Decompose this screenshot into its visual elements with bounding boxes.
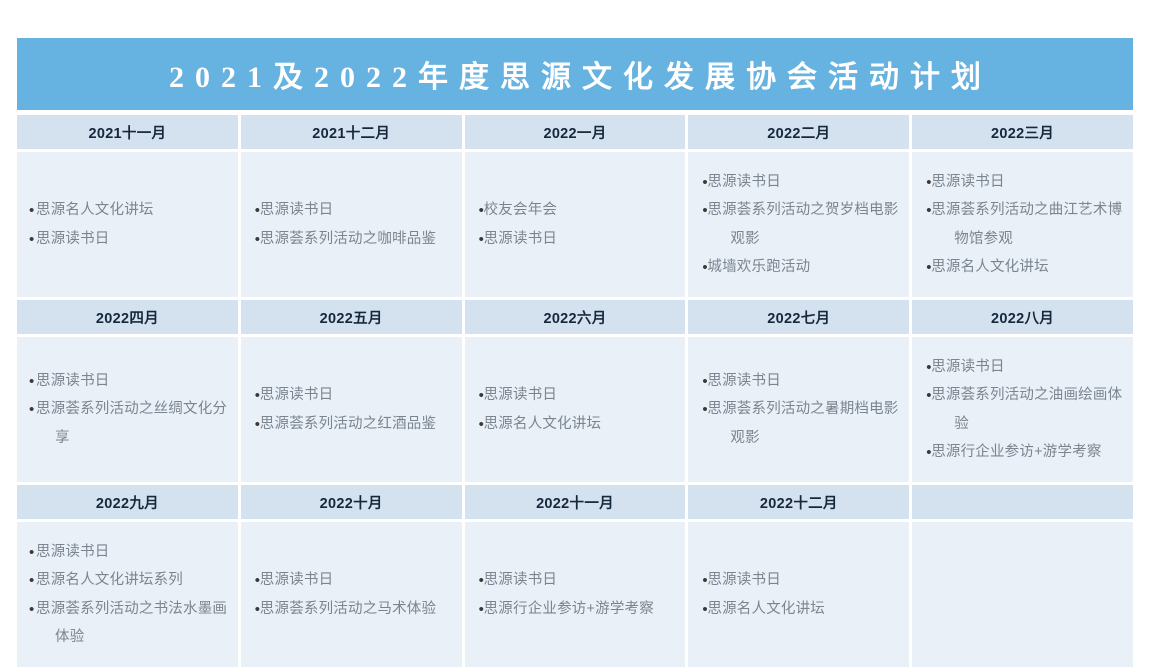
bullet-icon: • [926,353,931,382]
month-header: 2022三月 [912,115,1133,149]
month-cell[interactable]: 2022六月•思源读书日•思源名人文化讲坛 [465,300,686,482]
event-list-item[interactable]: •思源荟系列活动之暑期档电影观影 [692,395,903,452]
event-list-item[interactable]: •思源读书日 [245,381,456,409]
event-list: •思源读书日•思源荟系列活动之红酒品鉴 [245,381,456,438]
month-cell[interactable]: 2022五月•思源读书日•思源荟系列活动之红酒品鉴 [241,300,462,482]
event-label: 思源读书日 [36,373,110,389]
event-label: 思源荟系列活动之咖啡品鉴 [260,231,436,247]
event-list-item[interactable]: •思源读书日 [469,225,680,253]
month-header: 2022七月 [688,300,909,334]
month-header: 2022十二月 [688,485,909,519]
calendar-row: 2021十一月•思源名人文化讲坛•思源读书日2021十二月•思源读书日•思源荟系… [17,115,1133,297]
event-list-item[interactable]: •思源读书日 [692,566,903,594]
event-label: 思源读书日 [260,572,334,588]
month-cell[interactable]: 2021十一月•思源名人文化讲坛•思源读书日 [17,115,238,297]
month-header: 2022九月 [17,485,238,519]
month-cell[interactable]: 2022四月•思源读书日•思源荟系列活动之丝绸文化分享 [17,300,238,482]
month-cell[interactable]: 2022十二月•思源读书日•思源名人文化讲坛 [688,485,909,667]
bullet-icon: • [702,196,707,225]
bullet-icon: • [255,381,260,410]
event-list-container: •思源名人文化讲坛•思源读书日 [17,152,238,297]
bullet-icon: • [702,367,707,396]
event-label: 思源读书日 [707,174,781,190]
month-header: 2022六月 [465,300,686,334]
event-list: •思源读书日•思源名人文化讲坛 [692,566,903,623]
month-header: 2022五月 [241,300,462,334]
event-list-item[interactable]: •思源读书日 [245,566,456,594]
event-list-item[interactable]: •思源读书日 [245,196,456,224]
bullet-icon: • [255,196,260,225]
event-list-item[interactable]: •思源荟系列活动之贺岁档电影观影 [692,196,903,253]
event-list-item[interactable]: •思源名人文化讲坛系列 [21,566,232,594]
bullet-icon: • [255,595,260,624]
bullet-icon: • [479,225,484,254]
bullet-icon: • [29,566,34,595]
event-list-item[interactable]: •思源荟系列活动之马术体验 [245,595,456,623]
event-list-item[interactable]: •思源读书日 [916,168,1127,196]
bullet-icon: • [926,168,931,197]
event-label: 思源名人文化讲坛 [931,259,1049,275]
event-list-container: •思源读书日•思源荟系列活动之咖啡品鉴 [241,152,462,297]
bullet-icon: • [479,381,484,410]
event-label: 思源读书日 [260,202,334,218]
event-label: 思源名人文化讲坛系列 [36,572,183,588]
event-list-container: •思源读书日•思源名人文化讲坛系列•思源荟系列活动之书法水墨画体验 [17,522,238,667]
event-label: 思源名人文化讲坛 [707,601,825,617]
bullet-icon: • [702,395,707,424]
event-list-item[interactable]: •思源荟系列活动之书法水墨画体验 [21,595,232,652]
event-list: •思源读书日•思源行企业参访+游学考察 [469,566,680,623]
event-label: 思源读书日 [484,387,558,403]
month-cell[interactable]: 2022一月•校友会年会•思源读书日 [465,115,686,297]
event-list-container: •思源读书日•思源名人文化讲坛 [465,337,686,482]
bullet-icon: • [702,168,707,197]
event-list-item[interactable]: •校友会年会 [469,196,680,224]
month-header: 2022十月 [241,485,462,519]
month-header: 2021十一月 [17,115,238,149]
event-list-container: •思源读书日•思源荟系列活动之贺岁档电影观影•城墙欢乐跑活动 [688,152,909,297]
event-label: 城墙欢乐跑活动 [707,259,810,275]
event-list: •思源名人文化讲坛•思源读书日 [21,196,232,253]
event-list-container: •思源读书日•思源荟系列活动之暑期档电影观影 [688,337,909,482]
event-list-item[interactable]: •思源读书日 [469,381,680,409]
bullet-icon: • [29,225,34,254]
event-label: 思源读书日 [707,572,781,588]
bullet-icon: • [702,253,707,282]
event-list-item[interactable]: •思源荟系列活动之油画绘画体验 [916,381,1127,438]
event-list-item[interactable]: •思源荟系列活动之丝绸文化分享 [21,395,232,452]
event-list: •思源读书日•思源名人文化讲坛系列•思源荟系列活动之书法水墨画体验 [21,538,232,651]
event-list: •思源读书日•思源荟系列活动之油画绘画体验•思源行企业参访+游学考察 [916,353,1127,466]
bullet-icon: • [29,395,34,424]
bullet-icon: • [926,196,931,225]
month-cell[interactable]: 2022十一月•思源读书日•思源行企业参访+游学考察 [465,485,686,667]
calendar-grid: 2021十一月•思源名人文化讲坛•思源读书日2021十二月•思源读书日•思源荟系… [17,115,1133,659]
event-list-container: •思源读书日•思源荟系列活动之丝绸文化分享 [17,337,238,482]
bullet-icon: • [479,566,484,595]
event-list-container: •思源读书日•思源名人文化讲坛 [688,522,909,667]
bullet-icon: • [479,595,484,624]
event-label: 思源读书日 [931,174,1005,190]
month-cell[interactable]: 2022九月•思源读书日•思源名人文化讲坛系列•思源荟系列活动之书法水墨画体验 [17,485,238,667]
bullet-icon: • [926,438,931,467]
event-label: 思源名人文化讲坛 [484,416,602,432]
event-label: 思源行企业参访+游学考察 [931,444,1101,460]
event-list-item[interactable]: •思源读书日 [21,367,232,395]
event-list-item[interactable]: •思源读书日 [469,566,680,594]
event-label: 思源荟系列活动之丝绸文化分享 [36,401,227,445]
event-label: 思源荟系列活动之曲江艺术博物馆参观 [931,202,1122,246]
event-list-item[interactable]: •思源读书日 [916,353,1127,381]
month-header: 2022八月 [912,300,1133,334]
event-label: 思源读书日 [36,231,110,247]
month-cell[interactable] [912,485,1133,667]
calendar-row: 2022四月•思源读书日•思源荟系列活动之丝绸文化分享2022五月•思源读书日•… [17,300,1133,482]
bullet-icon: • [255,225,260,254]
event-list-item[interactable]: •思源读书日 [692,168,903,196]
event-list-item[interactable]: •思源名人文化讲坛 [469,410,680,438]
bullet-icon: • [702,595,707,624]
bullet-icon: • [255,410,260,439]
bullet-icon: • [926,381,931,410]
event-list-item[interactable]: •思源读书日 [21,225,232,253]
activity-plan-page: 2021及2022年度思源文化发展协会活动计划 2021十一月•思源名人文化讲坛… [0,0,1151,659]
event-label: 思源名人文化讲坛 [36,202,154,218]
bullet-icon: • [29,196,34,225]
event-list: •思源读书日•思源名人文化讲坛 [469,381,680,438]
event-list: •思源读书日•思源荟系列活动之贺岁档电影观影•城墙欢乐跑活动 [692,168,903,281]
event-list: •思源读书日•思源荟系列活动之丝绸文化分享 [21,367,232,452]
bullet-icon: • [926,253,931,282]
event-list: •思源读书日•思源荟系列活动之暑期档电影观影 [692,367,903,452]
event-label: 思源读书日 [36,544,110,560]
bullet-icon: • [255,566,260,595]
month-header: 2022四月 [17,300,238,334]
event-label: 思源荟系列活动之红酒品鉴 [260,416,436,432]
event-list-item[interactable]: •思源荟系列活动之红酒品鉴 [245,410,456,438]
event-list-item[interactable]: •思源读书日 [692,367,903,395]
event-label: 思源读书日 [484,572,558,588]
month-header: 2022二月 [688,115,909,149]
month-header: 2022十一月 [465,485,686,519]
event-label: 思源读书日 [484,231,558,247]
event-label: 思源荟系列活动之书法水墨画体验 [36,601,227,645]
event-list-container: •思源读书日•思源荟系列活动之曲江艺术博物馆参观•思源名人文化讲坛 [912,152,1133,297]
event-list-item[interactable]: •思源名人文化讲坛 [916,253,1127,281]
event-list-item[interactable]: •思源名人文化讲坛 [21,196,232,224]
event-label: 思源读书日 [260,387,334,403]
event-label: 思源荟系列活动之马术体验 [260,601,436,617]
page-title: 2021及2022年度思源文化发展协会活动计划 [158,52,992,96]
event-label: 思源荟系列活动之油画绘画体验 [931,387,1122,431]
event-list-container: •思源读书日•思源行企业参访+游学考察 [465,522,686,667]
month-header-empty [912,485,1133,519]
event-list-item[interactable]: •思源荟系列活动之曲江艺术博物馆参观 [916,196,1127,253]
event-list-item[interactable]: •思源荟系列活动之咖啡品鉴 [245,225,456,253]
month-header: 2022一月 [465,115,686,149]
bullet-icon: • [702,566,707,595]
bullet-icon: • [29,538,34,567]
month-cell[interactable]: 2022八月•思源读书日•思源荟系列活动之油画绘画体验•思源行企业参访+游学考察 [912,300,1133,482]
event-label: 思源行企业参访+游学考察 [484,601,654,617]
event-list-item[interactable]: •思源读书日 [21,538,232,566]
bullet-icon: • [29,367,34,396]
event-list-container: •思源读书日•思源荟系列活动之油画绘画体验•思源行企业参访+游学考察 [912,337,1133,482]
bullet-icon: • [479,196,484,225]
title-banner: 2021及2022年度思源文化发展协会活动计划 [17,38,1133,110]
bullet-icon: • [479,410,484,439]
event-label: 思源读书日 [707,373,781,389]
bullet-icon: • [29,595,34,624]
month-cell[interactable]: 2021十二月•思源读书日•思源荟系列活动之咖啡品鉴 [241,115,462,297]
month-cell[interactable]: 2022二月•思源读书日•思源荟系列活动之贺岁档电影观影•城墙欢乐跑活动 [688,115,909,297]
month-header: 2021十二月 [241,115,462,149]
event-list: •思源读书日•思源荟系列活动之曲江艺术博物馆参观•思源名人文化讲坛 [916,168,1127,281]
month-cell[interactable]: 2022十月•思源读书日•思源荟系列活动之马术体验 [241,485,462,667]
event-label: 思源读书日 [931,359,1005,375]
event-list-item[interactable]: •思源行企业参访+游学考察 [469,595,680,623]
month-cell[interactable]: 2022七月•思源读书日•思源荟系列活动之暑期档电影观影 [688,300,909,482]
event-list-container-empty [912,522,1133,667]
event-label: 校友会年会 [484,202,558,218]
event-list: •思源读书日•思源荟系列活动之马术体验 [245,566,456,623]
month-cell[interactable]: 2022三月•思源读书日•思源荟系列活动之曲江艺术博物馆参观•思源名人文化讲坛 [912,115,1133,297]
event-list-container: •思源读书日•思源荟系列活动之红酒品鉴 [241,337,462,482]
event-list: •校友会年会•思源读书日 [469,196,680,253]
event-list-item[interactable]: •思源名人文化讲坛 [692,595,903,623]
event-label: 思源荟系列活动之暑期档电影观影 [707,401,898,445]
event-list: •思源读书日•思源荟系列活动之咖啡品鉴 [245,196,456,253]
event-list-container: •思源读书日•思源荟系列活动之马术体验 [241,522,462,667]
event-label: 思源荟系列活动之贺岁档电影观影 [707,202,898,246]
calendar-row: 2022九月•思源读书日•思源名人文化讲坛系列•思源荟系列活动之书法水墨画体验2… [17,485,1133,667]
event-list-container: •校友会年会•思源读书日 [465,152,686,297]
event-list-item[interactable]: •思源行企业参访+游学考察 [916,438,1127,466]
event-list-item[interactable]: •城墙欢乐跑活动 [692,253,903,281]
